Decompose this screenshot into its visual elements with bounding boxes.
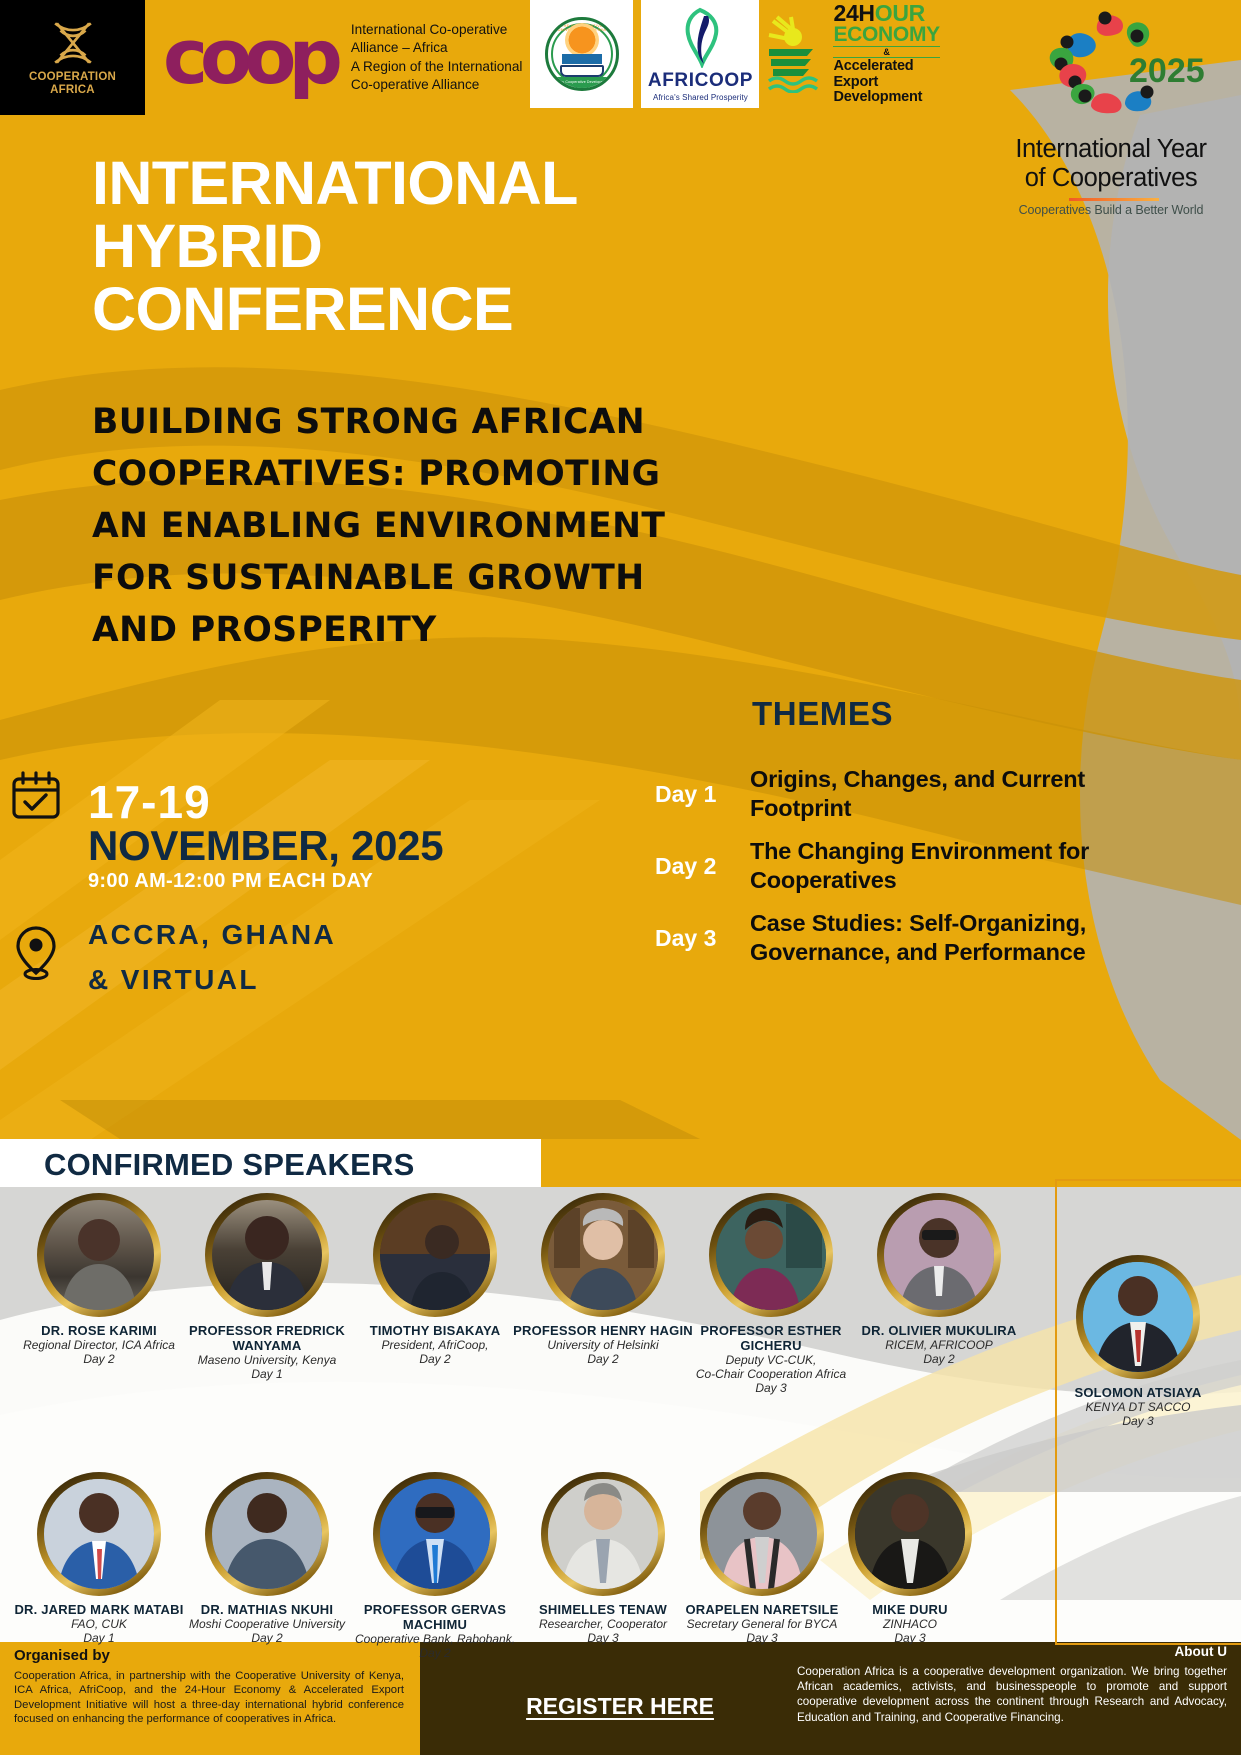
speaker-org: RICEM, AFRICOOP bbox=[849, 1338, 1029, 1352]
speaker-name: PROFESSOR GERVAS MACHIMU bbox=[345, 1602, 525, 1632]
speaker-card[interactable]: PROFESSOR HENRY HAGIN University of Hels… bbox=[513, 1193, 693, 1366]
logo-africoop: AFRICOOP Africa's Shared Prosperity bbox=[641, 0, 759, 108]
cuk-crest-bottom-text: Elimu Cooperative Development bbox=[548, 77, 616, 88]
speaker-day: Day 3 bbox=[1048, 1414, 1228, 1428]
speaker-org: Moshi Cooperative University bbox=[177, 1617, 357, 1631]
speaker-day: Day 3 bbox=[681, 1381, 861, 1395]
speaker-name: DR. MATHIAS NKUHI bbox=[177, 1602, 357, 1617]
coop-text-line-3: A Region of the International bbox=[351, 58, 523, 77]
h24-line1: 24HOUR bbox=[833, 2, 939, 24]
coop-text-line-2: Alliance – Africa bbox=[351, 39, 523, 58]
theme-day-label: Day 2 bbox=[655, 853, 750, 880]
footer-organised-heading: Organised by bbox=[14, 1647, 110, 1664]
avatar bbox=[1076, 1255, 1200, 1379]
speaker-card[interactable]: SOLOMON ATSIAYA KENYA DT SACCO Day 3 bbox=[1048, 1255, 1228, 1428]
speaker-name: DR. OLIVIER MUKULIRA bbox=[849, 1323, 1029, 1338]
speaker-org: University of Helsinki bbox=[513, 1338, 693, 1352]
theme-text: Origins, Changes, and Current Footprint bbox=[750, 765, 1125, 823]
footer-organised-text: Cooperation Africa, in partnership with … bbox=[14, 1669, 404, 1727]
speaker-day: Day 2 bbox=[345, 1646, 525, 1660]
event-date-month-year: NOVEMBER, 2025 bbox=[88, 822, 443, 870]
avatar bbox=[541, 1472, 665, 1596]
speaker-name: PROFESSOR ESTHER GICHERU bbox=[681, 1323, 861, 1353]
avatar bbox=[37, 1193, 161, 1317]
avatar bbox=[709, 1193, 833, 1317]
speaker-org: Cooperative Bank, Rabobank, bbox=[345, 1632, 525, 1646]
africoop-tagline: Africa's Shared Prosperity bbox=[653, 93, 748, 102]
speaker-day: Day 1 bbox=[177, 1367, 357, 1381]
subtitle-line-4: FOR SUSTAINABLE GROWTH bbox=[92, 552, 832, 604]
speaker-day: Day 3 bbox=[820, 1631, 1000, 1645]
themes-heading: THEMES bbox=[752, 695, 893, 733]
speaker-day: Day 2 bbox=[177, 1631, 357, 1645]
speaker-card[interactable]: MIKE DURU ZINHACO Day 3 bbox=[820, 1472, 1000, 1645]
h24-line2: ECONOMY bbox=[833, 24, 939, 45]
speaker-card[interactable]: SHIMELLES TENAW Researcher, Cooperator D… bbox=[513, 1472, 693, 1645]
footer-about-text: Cooperation Africa is a cooperative deve… bbox=[797, 1664, 1227, 1725]
avatar bbox=[205, 1472, 329, 1596]
speaker-org: ZINHACO bbox=[820, 1617, 1000, 1631]
speaker-card[interactable]: PROFESSOR GERVAS MACHIMU Cooperative Ban… bbox=[345, 1472, 525, 1660]
24hour-sun-waves-icon bbox=[767, 15, 829, 93]
confirmed-speakers-heading: CONFIRMED SPEAKERS bbox=[44, 1147, 414, 1183]
speaker-org: Deputy VC-CUK, Co-Chair Cooperation Afri… bbox=[681, 1353, 861, 1381]
event-location: ACCRA, GHANA & VIRTUAL bbox=[88, 912, 336, 1002]
cuk-crest-icon: THE CO-OPERATIVE UNIVERSITY OF KENYA Eli… bbox=[545, 17, 619, 91]
speaker-org: Regional Director, ICA Africa bbox=[9, 1338, 189, 1352]
logo-24hour-economy: 24HOUR ECONOMY & Accelerated Export Deve… bbox=[767, 0, 939, 108]
coop-text-line-1: International Co-operative bbox=[351, 21, 523, 40]
h24-ampersand: & bbox=[833, 46, 939, 58]
iyc-underline bbox=[1069, 198, 1159, 201]
speaker-name: MIKE DURU bbox=[820, 1602, 1000, 1617]
page-title-line-1: INTERNATIONAL bbox=[92, 152, 578, 215]
avatar bbox=[37, 1472, 161, 1596]
speaker-card[interactable]: PROFESSOR FREDRICK WANYAMA Maseno Univer… bbox=[177, 1193, 357, 1381]
page-subtitle: BUILDING STRONG AFRICAN COOPERATIVES: PR… bbox=[92, 396, 832, 656]
map-pin-icon bbox=[12, 925, 60, 981]
speaker-org: Researcher, Cooperator bbox=[513, 1617, 693, 1631]
logo-coop-ica: coop International Co-operative Alliance… bbox=[145, 0, 522, 115]
speakers-row-2: DR. JARED MARK MATABI FAO, CUK Day 1 DR.… bbox=[0, 1427, 1241, 1677]
theme-text: Case Studies: Self-Organizing, Governanc… bbox=[750, 909, 1125, 967]
theme-day-label: Day 3 bbox=[655, 925, 750, 952]
event-location-line-1: ACCRA, GHANA bbox=[88, 912, 336, 957]
subtitle-line-3: AN ENABLING ENVIRONMENT bbox=[92, 500, 832, 552]
calendar-check-icon bbox=[10, 770, 62, 822]
footer-about-heading: About U bbox=[1175, 1644, 1227, 1659]
logo-cooperation-africa: COOPERATION AFRICA bbox=[0, 0, 145, 115]
speaker-card[interactable]: TIMOTHY BISAKAYA President, AfriCoop, Da… bbox=[345, 1193, 525, 1366]
register-here-link[interactable]: REGISTER HERE bbox=[455, 1693, 785, 1720]
logo-cuk: THE CO-OPERATIVE UNIVERSITY OF KENYA Eli… bbox=[530, 0, 633, 108]
speaker-name: SOLOMON ATSIAYA bbox=[1048, 1385, 1228, 1400]
speaker-card[interactable]: DR. ROSE KARIMI Regional Director, ICA A… bbox=[9, 1193, 189, 1366]
speaker-day: Day 2 bbox=[513, 1352, 693, 1366]
speaker-day: Day 3 bbox=[513, 1631, 693, 1645]
theme-text: The Changing Environment for Cooperative… bbox=[750, 837, 1125, 895]
theme-day-label: Day 1 bbox=[655, 781, 750, 808]
coop-text-line-4: Co-operative Alliance bbox=[351, 76, 523, 95]
speaker-org: FAO, CUK bbox=[9, 1617, 189, 1631]
event-location-line-2: & VIRTUAL bbox=[88, 957, 336, 1002]
iyc-title: International Year of Cooperatives bbox=[981, 135, 1241, 193]
avatar bbox=[877, 1193, 1001, 1317]
cooperation-africa-monogram-icon bbox=[46, 18, 100, 68]
speaker-name: TIMOTHY BISAKAYA bbox=[345, 1323, 525, 1338]
theme-row: Day 3 Case Studies: Self-Organizing, Gov… bbox=[655, 909, 1125, 967]
subtitle-line-2: COOPERATIVES: PROMOTING bbox=[92, 448, 832, 500]
avatar bbox=[848, 1472, 972, 1596]
speaker-name: SHIMELLES TENAW bbox=[513, 1602, 693, 1617]
event-time: 9:00 AM-12:00 PM EACH DAY bbox=[88, 870, 373, 893]
speaker-day: Day 1 bbox=[9, 1631, 189, 1645]
logo-cooperation-africa-label: COOPERATION AFRICA bbox=[29, 71, 116, 97]
iyc-tagline: Cooperatives Build a Better World bbox=[981, 203, 1241, 217]
speaker-name: DR. ROSE KARIMI bbox=[9, 1323, 189, 1338]
theme-row: Day 2 The Changing Environment for Coope… bbox=[655, 837, 1125, 895]
speaker-org: KENYA DT SACCO bbox=[1048, 1400, 1228, 1414]
page-title-line-2: HYBRID bbox=[92, 215, 578, 278]
speaker-card[interactable]: DR. MATHIAS NKUHI Moshi Cooperative Univ… bbox=[177, 1472, 357, 1645]
speaker-day: Day 2 bbox=[849, 1352, 1029, 1366]
coop-wordmark: coop bbox=[163, 30, 335, 85]
speaker-card[interactable]: PROFESSOR ESTHER GICHERU Deputy VC-CUK, … bbox=[681, 1193, 861, 1395]
speaker-org: Maseno University, Kenya bbox=[177, 1353, 357, 1367]
speaker-card[interactable]: DR. OLIVIER MUKULIRA RICEM, AFRICOOP Day… bbox=[849, 1193, 1029, 1366]
avatar bbox=[205, 1193, 329, 1317]
speaker-day: Day 2 bbox=[9, 1352, 189, 1366]
avatar bbox=[373, 1472, 497, 1596]
subtitle-line-5: AND PROSPERITY bbox=[92, 604, 832, 656]
h24-line3: Accelerated Export Development bbox=[833, 59, 939, 106]
coop-ica-text: International Co-operative Alliance – Af… bbox=[351, 21, 523, 95]
speaker-name: PROFESSOR FREDRICK WANYAMA bbox=[177, 1323, 357, 1353]
avatar bbox=[541, 1193, 665, 1317]
speaker-name: PROFESSOR HENRY HAGIN bbox=[513, 1323, 693, 1338]
logo-international-year-of-cooperatives: 2025 International Year of Cooperatives … bbox=[981, 0, 1241, 230]
event-date-days: 17-19 bbox=[88, 775, 211, 829]
page-title-line-3: CONFERENCE bbox=[92, 278, 578, 341]
africoop-map-icon bbox=[670, 6, 730, 68]
iyc-year: 2025 bbox=[1129, 52, 1205, 91]
africoop-name: AFRICOOP bbox=[648, 70, 753, 92]
conference-poster: COOPERATION AFRICA coop International Co… bbox=[0, 0, 1241, 1755]
page-title: INTERNATIONAL HYBRID CONFERENCE bbox=[92, 152, 578, 341]
speaker-day: Day 2 bbox=[345, 1352, 525, 1366]
theme-row: Day 1 Origins, Changes, and Current Foot… bbox=[655, 765, 1125, 823]
speaker-card[interactable]: DR. JARED MARK MATABI FAO, CUK Day 1 bbox=[9, 1472, 189, 1645]
speaker-org: President, AfriCoop, bbox=[345, 1338, 525, 1352]
themes-list: Day 1 Origins, Changes, and Current Foot… bbox=[655, 765, 1125, 981]
subtitle-line-1: BUILDING STRONG AFRICAN bbox=[92, 396, 832, 448]
avatar bbox=[700, 1472, 824, 1596]
avatar bbox=[373, 1193, 497, 1317]
speaker-name: DR. JARED MARK MATABI bbox=[9, 1602, 189, 1617]
